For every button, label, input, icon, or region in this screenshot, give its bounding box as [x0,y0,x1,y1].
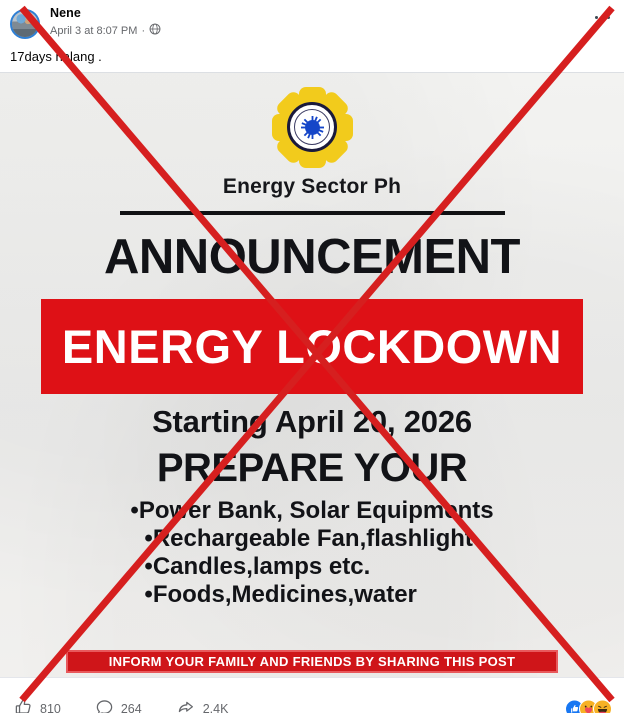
poster-footer-banner: INFORM YOUR FAMILY AND FRIENDS BY SHARIN… [66,650,558,673]
poster-bullet-list: •Power Bank, Solar Equipments •Rechargea… [130,497,493,609]
poster-start-date: Starting April 20, 2026 [152,404,472,440]
reaction-summary[interactable] [565,699,612,713]
post-meta: April 3 at 8:07 PM · [50,23,161,40]
author-block: Nene April 3 at 8:07 PM · [50,5,161,40]
author-name[interactable]: Nene [50,5,161,21]
post-actions-bar: 810 264 2.4K [0,677,624,713]
seal-gear-icon [301,116,324,139]
poster-footer-banner-text: INFORM YOUR FAMILY AND FRIENDS BY SHARIN… [109,654,516,669]
poster-content: Energy Sector Ph ANNOUNCEMENT ENERGY LOC… [0,73,624,677]
poster-org-name: Energy Sector Ph [223,175,401,199]
share-count: 2.4K [203,702,229,713]
action-group: 810 264 2.4K [14,698,228,713]
avatar-image [12,11,38,37]
poster-banner-text: ENERGY LOCKDOWN [62,319,562,374]
comment-bubble-icon [95,698,114,713]
post-image-attachment[interactable]: Energy Sector Ph ANNOUNCEMENT ENERGY LOC… [0,72,624,677]
share-arrow-icon [176,698,196,713]
globe-icon [149,23,161,40]
haha-reaction-icon [593,699,612,713]
post-header: Nene April 3 at 8:07 PM · [0,0,624,46]
department-of-energy-philippines-seal-icon [270,85,354,169]
avatar[interactable] [10,9,40,39]
poster-divider [120,211,505,215]
more-options-icon[interactable] [595,16,610,19]
poster-headline: ANNOUNCEMENT [104,229,520,285]
share-button[interactable]: 2.4K [176,698,229,713]
comment-count: 264 [121,702,142,713]
facebook-post: Nene April 3 at 8:07 PM · 17days nalang … [0,0,624,713]
list-item: •Foods,Medicines,water [144,581,493,609]
list-item: •Candles,lamps etc. [144,553,493,581]
post-timestamp[interactable]: April 3 at 8:07 PM [50,24,137,39]
list-item: •Power Bank, Solar Equipments [130,497,493,525]
meta-separator: · [141,24,145,39]
comment-button[interactable]: 264 [95,698,142,713]
poster-prepare-label: PREPARE YOUR [157,446,467,491]
list-item: •Rechargeable Fan,flashlight [144,525,493,553]
post-caption: 17days nalang . [0,46,624,72]
poster-red-banner: ENERGY LOCKDOWN [41,299,583,394]
like-button[interactable]: 810 [14,698,61,713]
like-count: 810 [40,702,61,713]
thumbs-up-icon [14,698,33,713]
